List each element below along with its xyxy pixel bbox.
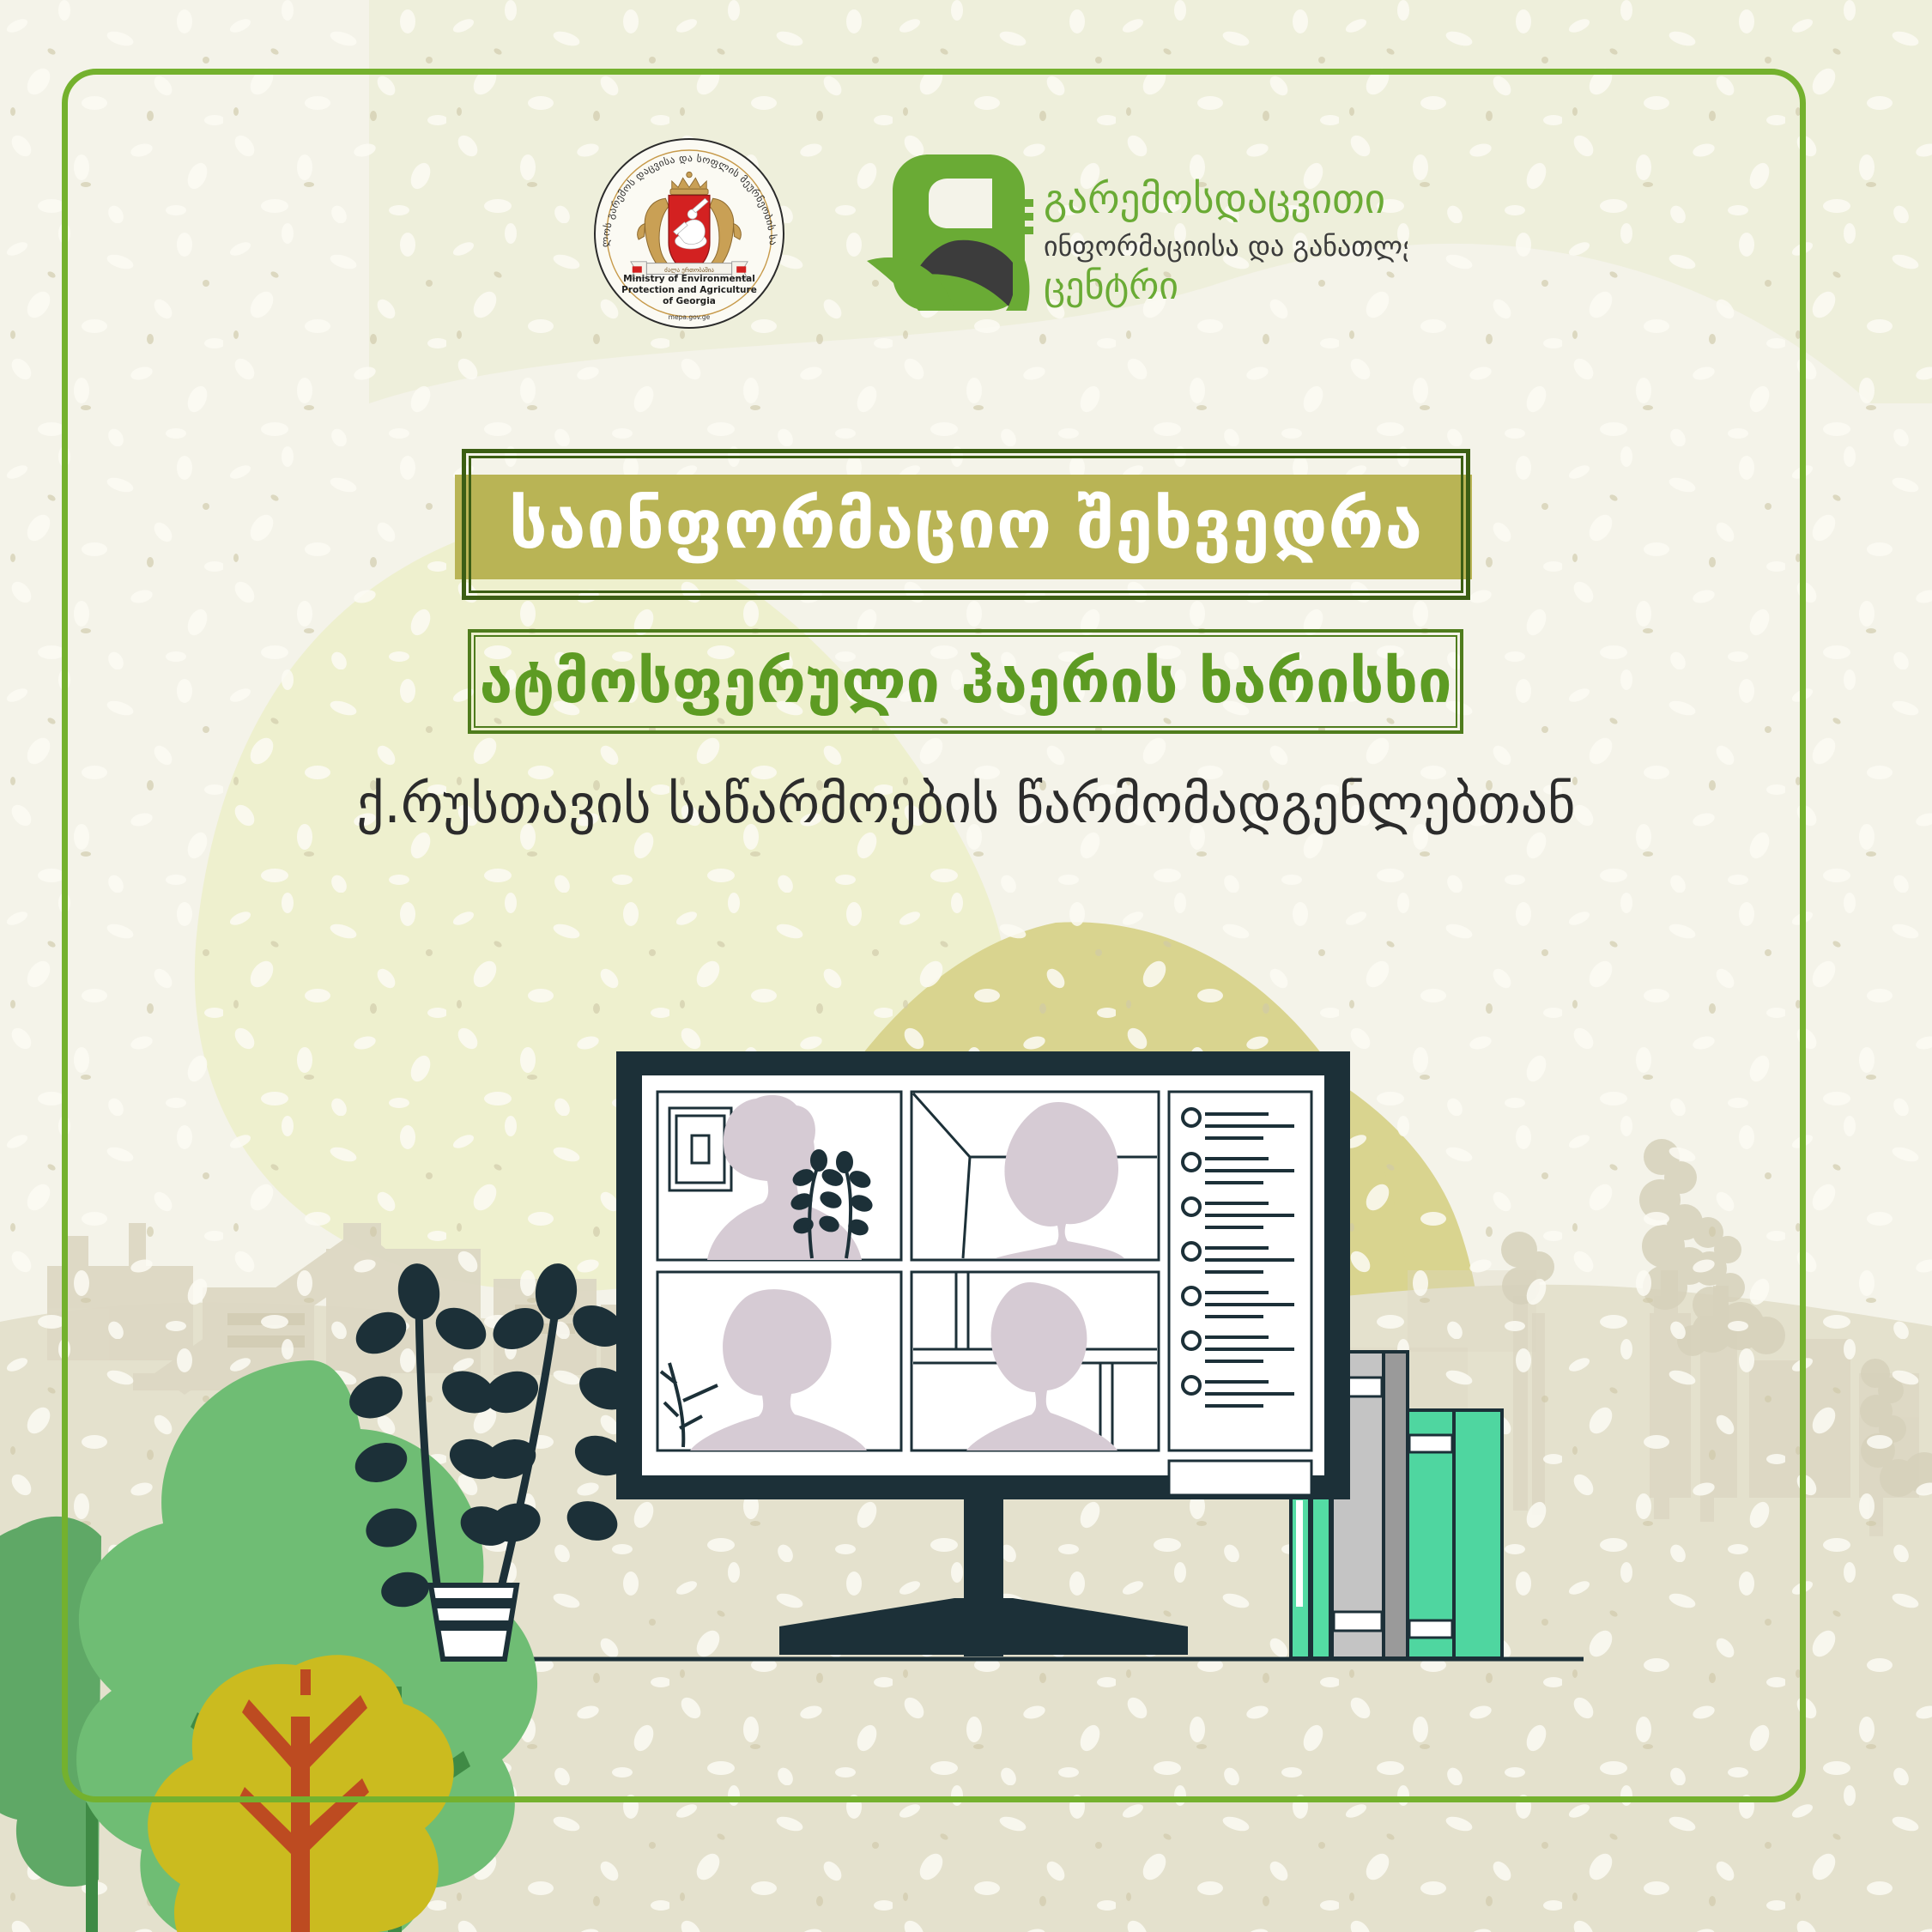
participants-sidebar bbox=[1169, 1092, 1311, 1495]
ministry-seal-logo: საქართველოს გარემოს დაცვისა და სოფლის მე… bbox=[588, 137, 790, 330]
video-tile-3 bbox=[657, 1272, 901, 1451]
header-logos: საქართველოს გარემოს დაცვისა და სოფლის მე… bbox=[0, 137, 1932, 335]
seal-line-3: of Georgia bbox=[663, 296, 716, 306]
video-tile-1 bbox=[657, 1092, 901, 1260]
center-logo-line-1: გარემოსდაცვითი bbox=[1044, 176, 1385, 223]
poster-canvas: საქართველოს გარემოს დაცვისა და სოფლის მე… bbox=[0, 0, 1932, 1932]
seal-line-2: Protection and Agriculture bbox=[621, 285, 757, 295]
primary-title-banner: საინფორმაციო შეხვედრა bbox=[462, 449, 1470, 600]
plant-pot bbox=[431, 1585, 517, 1659]
sidebar-footer-bar bbox=[1169, 1461, 1311, 1495]
primary-title-text: საინფორმაციო შეხვედრა bbox=[462, 449, 1470, 600]
seal-url: mepa.gov.ge bbox=[669, 313, 711, 321]
open-book-leaf-icon bbox=[867, 154, 1033, 311]
tree-trunk-yellow bbox=[291, 1717, 310, 1932]
center-logo-line-2: ინფორმაციისა და განათლების bbox=[1044, 230, 1408, 263]
secondary-title-text: ატმოსფერული ჰაერის ხარისხი bbox=[468, 629, 1463, 734]
video-tile-2 bbox=[911, 1092, 1159, 1260]
svg-text:ძალა ერთობაშია: ძალა ერთობაშია bbox=[664, 266, 714, 274]
secondary-title-banner: ატმოსფერული ჰაერის ხარისხი bbox=[468, 629, 1463, 734]
subtitle-text: ქ.რუსთავის საწარმოების წარმომადგენლებთან bbox=[0, 772, 1932, 835]
video-tile-4 bbox=[911, 1272, 1159, 1451]
center-logo-line-3: ცენტრი bbox=[1044, 264, 1178, 308]
environmental-center-logo: გარემოსდაცვითი ინფორმაციისა და განათლები… bbox=[858, 146, 1408, 318]
seal-line-1: Ministry of Environmental bbox=[623, 274, 755, 284]
